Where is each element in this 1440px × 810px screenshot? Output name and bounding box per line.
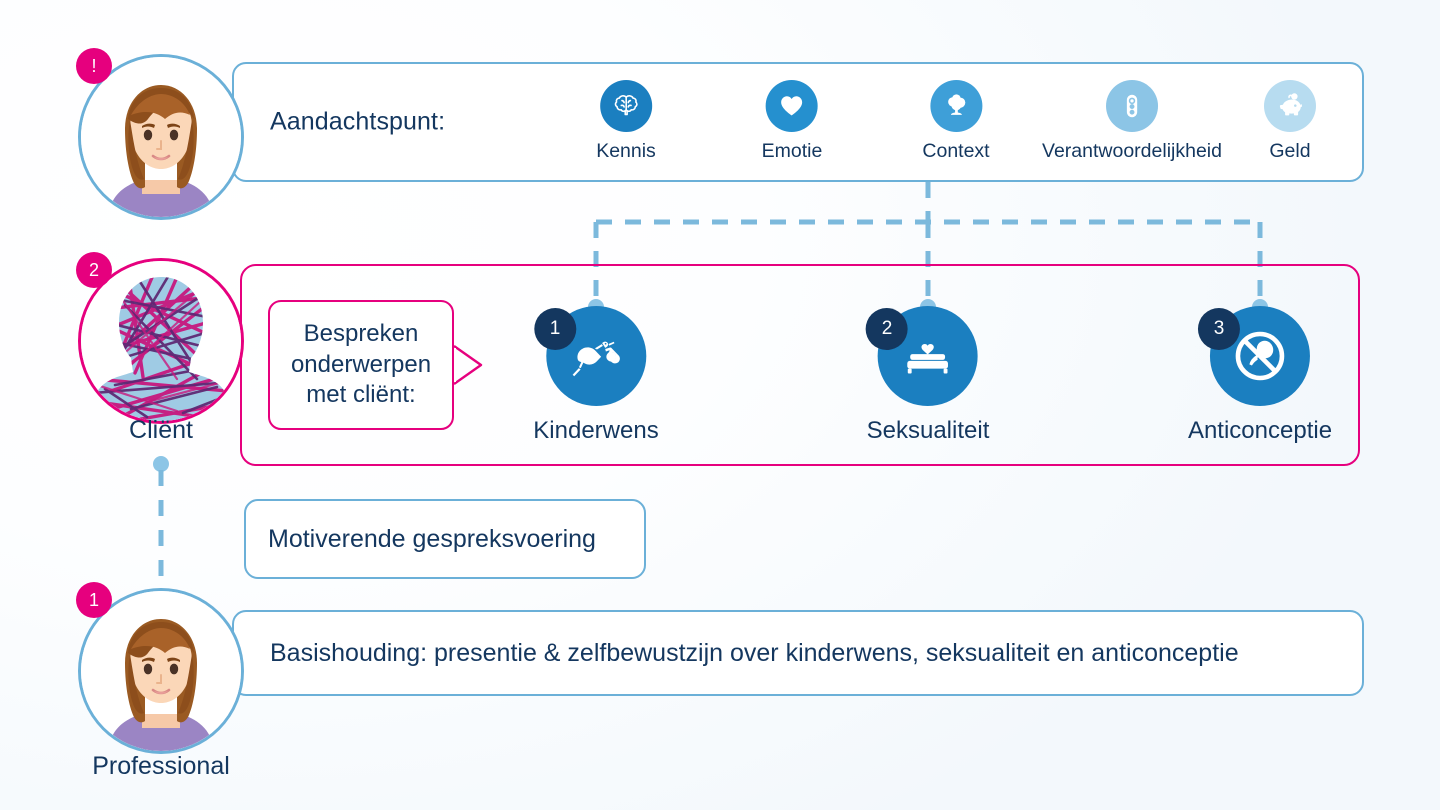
topic-label-anticonceptie: Anticonceptie	[1188, 417, 1332, 445]
topic-label-seksualiteit: Seksualiteit	[867, 417, 990, 445]
aandachtspunt-item-verantwoordelijkheid[interactable]: Verantwoordelijkheid	[1042, 80, 1222, 163]
motiverende-gespreksvoering-box: Motiverende gespreksvoering	[244, 499, 646, 579]
traffic-light-icon	[1106, 80, 1158, 132]
client-step-badge: 2	[76, 252, 112, 288]
aandachtspunt-item-emotie[interactable]: Emotie	[762, 80, 823, 163]
aandachtspunt-label-kennis: Kennis	[596, 140, 656, 163]
topic-seksualiteit[interactable]: 2 Seksualiteit	[867, 306, 990, 445]
topic-kinderwens[interactable]: 1 Kinderwens	[533, 306, 658, 445]
topic-label-kinderwens: Kinderwens	[533, 417, 658, 445]
client-role-label: Cliënt	[129, 416, 193, 445]
bespreken-speech-bubble: Bespreken onderwerpen met cliënt:	[268, 300, 454, 430]
aandachtspunt-item-context[interactable]: Context	[922, 80, 989, 163]
aandachtspunt-label-geld: Geld	[1269, 140, 1310, 163]
no-sperm-icon: 3	[1210, 306, 1310, 406]
topic-number-badge: 1	[534, 308, 576, 350]
aandachtspunt-label: Aandachtspunt:	[270, 108, 445, 137]
topic-anticonceptie[interactable]: 3 Anticonceptie	[1188, 306, 1332, 445]
bespreken-bubble-text: Bespreken onderwerpen met cliënt:	[291, 319, 431, 411]
aandachtspunt-item-kennis[interactable]: Kennis	[596, 80, 656, 163]
professional-role-label: Professional	[92, 752, 230, 781]
infographic-canvas: Aandachtspunt: Kennis	[0, 0, 1440, 810]
aandachtspunt-label-context: Context	[922, 140, 989, 163]
basishouding-band: Basishouding: presentie & zelfbewustzijn…	[232, 610, 1364, 696]
tree-icon	[930, 80, 982, 132]
aandachtspunt-band: Aandachtspunt: Kennis	[232, 62, 1364, 182]
aandachtspunt-icon-row: Kennis Emotie	[564, 64, 1354, 184]
aandachtspunt-item-geld[interactable]: Geld	[1264, 80, 1316, 163]
basishouding-text: Basishouding: presentie & zelfbewustzijn…	[234, 639, 1239, 668]
brain-icon	[600, 80, 652, 132]
heart-icon	[766, 80, 818, 132]
attention-badge: !	[76, 48, 112, 84]
bed-heart-icon: 2	[878, 306, 978, 406]
professional-step-badge: 1	[76, 582, 112, 618]
motiverende-gespreksvoering-text: Motiverende gespreksvoering	[246, 525, 596, 554]
pin-head-client	[153, 456, 169, 472]
aandachtspunt-label-emotie: Emotie	[762, 140, 823, 163]
stork-icon: 1	[546, 306, 646, 406]
piggy-bank-icon	[1264, 80, 1316, 132]
topic-number-badge: 3	[1198, 308, 1240, 350]
aandachtspunt-label-verantwoordelijkheid: Verantwoordelijkheid	[1042, 140, 1222, 163]
